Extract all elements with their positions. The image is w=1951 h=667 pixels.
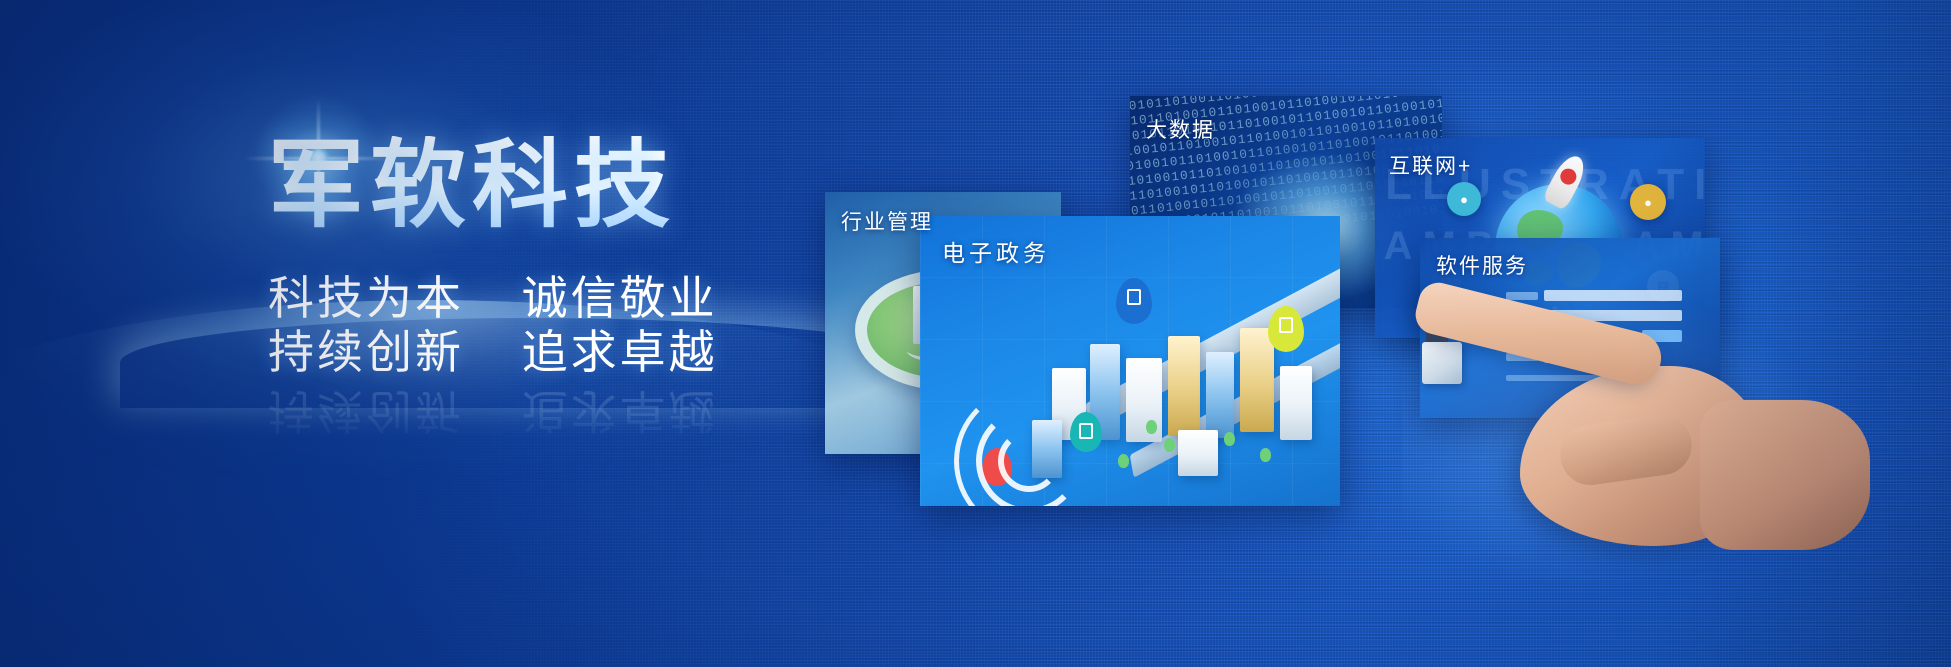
globe-node-icon: ● (1630, 184, 1666, 220)
slogan-reflection: 持续创新 追求卓越 (268, 381, 908, 447)
form-row (1506, 290, 1682, 301)
form-label-placeholder (1506, 332, 1538, 340)
form-button-placeholder (1642, 330, 1682, 342)
form-input-placeholder (1544, 331, 1636, 342)
slogan-line-1-part-1: 科技为本 (268, 272, 464, 324)
pin-glyph (1127, 289, 1141, 305)
iso-building (1168, 336, 1200, 436)
tree-icon (1164, 438, 1175, 452)
iso-building (1178, 430, 1218, 476)
hand-wrist (1700, 400, 1870, 550)
form-row (1506, 330, 1682, 342)
chat-node-icon: ● (1447, 182, 1481, 216)
card-software-service[interactable]: 软件服务 (1420, 238, 1720, 418)
hero-text-block: 军软科技 科技为本 诚信敬业 持续创新 追求卓越 持续创新 追求卓越 (268, 136, 908, 447)
slogan-line-1-part-2: 诚信敬业 (522, 272, 718, 324)
iso-building (1206, 352, 1234, 438)
form-input-placeholder (1544, 310, 1682, 321)
form-label-placeholder (1506, 353, 1538, 361)
map-pin-icon (1116, 278, 1152, 324)
signal-ripple (998, 430, 1060, 492)
card-label-industry-management: 行业管理 (841, 206, 933, 236)
slogan-reflection-line-2-part-1: 持续创新 (268, 385, 464, 437)
server-box-icon (1422, 342, 1462, 384)
slogan-line-2-part-1: 持续创新 (268, 326, 464, 378)
page-title: 军软科技 (268, 136, 908, 237)
hero-banner: 军软科技 科技为本 诚信敬业 持续创新 追求卓越 持续创新 追求卓越 (0, 0, 1951, 667)
service-card-collage: 行业管理 01001011010011010010110100101101001… (980, 96, 1710, 536)
form-mockup (1506, 290, 1682, 381)
tree-icon (1146, 420, 1157, 434)
tree-icon (1260, 448, 1271, 462)
form-note-placeholder (1506, 375, 1626, 381)
form-input-placeholder (1544, 290, 1682, 301)
card-label-e-government: 电子政务 (942, 234, 1050, 268)
form-submit-placeholder (1544, 351, 1584, 363)
slogan-block: 科技为本 诚信敬业 持续创新 追求卓越 (268, 271, 908, 380)
slogan-line-2-part-2: 追求卓越 (522, 326, 718, 378)
slogan-reflection-line-2: 持续创新 追求卓越 (268, 381, 908, 447)
form-label-placeholder (1506, 292, 1538, 300)
form-row (1506, 310, 1682, 321)
card-label-big-data: 大数据 (1146, 114, 1215, 144)
card-e-government[interactable]: 电子政务 (920, 216, 1340, 506)
tree-icon (1224, 432, 1235, 446)
form-row (1506, 351, 1682, 363)
slogan-reflection-line-2-part-2: 追求卓越 (522, 385, 718, 437)
pin-glyph (1279, 317, 1293, 333)
iso-building (1240, 328, 1274, 432)
form-label-placeholder (1506, 312, 1538, 320)
slogan-line-1: 科技为本 诚信敬业 (268, 271, 908, 325)
card-label-software-service: 软件服务 (1436, 250, 1528, 280)
iso-building (1280, 366, 1312, 440)
tree-icon (1118, 454, 1129, 468)
card-label-internet-plus: 互联网+ (1389, 150, 1472, 180)
slogan-line-2: 持续创新 追求卓越 (268, 325, 908, 379)
map-pin-icon (1268, 306, 1304, 352)
